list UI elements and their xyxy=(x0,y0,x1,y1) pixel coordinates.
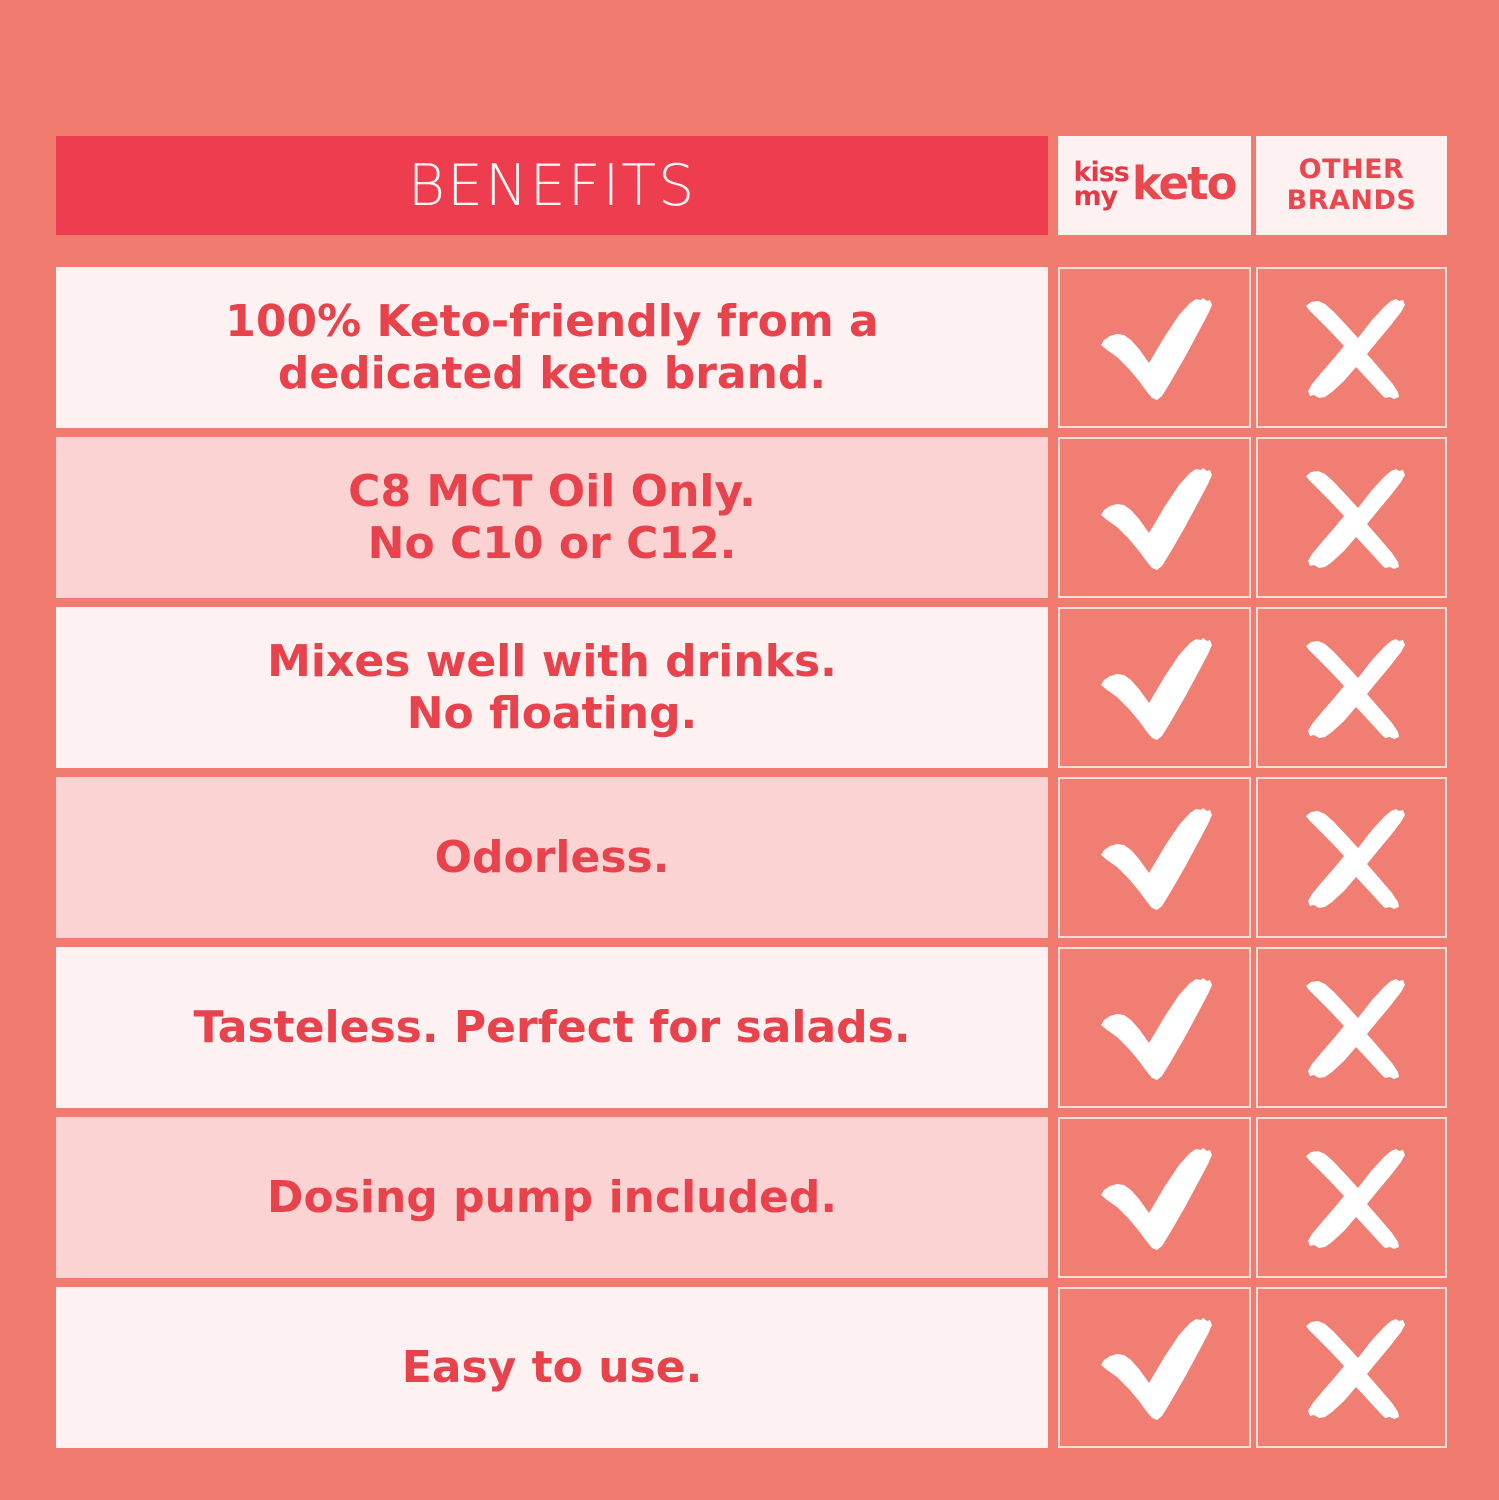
other-brands-mark-cell xyxy=(1256,267,1447,428)
benefits-comparison-chart: BENEFITS kiss my keto OTHER BRANDS 100% … xyxy=(0,0,1499,1500)
check-icon xyxy=(1095,1313,1215,1423)
benefit-text: Odorless. xyxy=(435,832,670,884)
benefit-cell: C8 MCT Oil Only. No C10 or C12. xyxy=(56,437,1048,598)
benefits-header-label: BENEFITS xyxy=(408,153,697,219)
check-icon xyxy=(1095,1143,1215,1253)
other-brands-mark-cell xyxy=(1256,437,1447,598)
benefit-text: C8 MCT Oil Only. No C10 or C12. xyxy=(348,466,756,570)
check-icon xyxy=(1095,633,1215,743)
kiss-my-keto-mark-cell xyxy=(1058,1287,1251,1448)
kiss-my-keto-mark-cell xyxy=(1058,1117,1251,1278)
benefit-cell: Dosing pump included. xyxy=(56,1117,1048,1278)
table-header-row: BENEFITS kiss my keto OTHER BRANDS xyxy=(56,136,1447,235)
cross-icon xyxy=(1292,1313,1412,1423)
other-brands-mark-cell xyxy=(1256,777,1447,938)
kiss-my-keto-mark-cell xyxy=(1058,437,1251,598)
kiss-my-keto-mark-cell xyxy=(1058,777,1251,938)
cross-icon xyxy=(1292,463,1412,573)
cross-icon xyxy=(1292,293,1412,403)
check-icon xyxy=(1095,463,1215,573)
table-row: Easy to use. xyxy=(56,1287,1447,1448)
other-brands-mark-cell xyxy=(1256,1287,1447,1448)
benefit-text: Mixes well with drinks. No floating. xyxy=(267,636,837,740)
logo-left-stack: kiss my xyxy=(1073,161,1128,207)
logo-my-text: my xyxy=(1073,185,1128,208)
cross-icon xyxy=(1292,973,1412,1083)
table-row: Mixes well with drinks. No floating. xyxy=(56,607,1447,768)
kiss-my-keto-mark-cell xyxy=(1058,607,1251,768)
benefit-cell: 100% Keto-friendly from a dedicated keto… xyxy=(56,267,1048,428)
kiss-my-keto-header-cell: kiss my keto xyxy=(1058,136,1251,235)
other-brands-label: OTHER BRANDS xyxy=(1256,155,1447,215)
table-row: 100% Keto-friendly from a dedicated keto… xyxy=(56,267,1447,428)
benefit-cell: Odorless. xyxy=(56,777,1048,938)
other-brands-header-cell: OTHER BRANDS xyxy=(1256,136,1447,235)
check-icon xyxy=(1095,803,1215,913)
kiss-my-keto-logo: kiss my keto xyxy=(1073,161,1235,207)
benefit-cell: Easy to use. xyxy=(56,1287,1048,1448)
benefit-cell: Tasteless. Perfect for salads. xyxy=(56,947,1048,1108)
benefit-cell: Mixes well with drinks. No floating. xyxy=(56,607,1048,768)
benefit-text: Tasteless. Perfect for salads. xyxy=(193,1002,910,1054)
other-brands-mark-cell xyxy=(1256,607,1447,768)
benefit-text: Easy to use. xyxy=(402,1342,703,1394)
check-icon xyxy=(1095,293,1215,403)
logo-keto-text: keto xyxy=(1132,164,1236,205)
table-row: Odorless. xyxy=(56,777,1447,938)
benefit-text: Dosing pump included. xyxy=(267,1172,837,1224)
check-icon xyxy=(1095,973,1215,1083)
kiss-my-keto-mark-cell xyxy=(1058,267,1251,428)
table-row: C8 MCT Oil Only. No C10 or C12. xyxy=(56,437,1447,598)
kiss-my-keto-mark-cell xyxy=(1058,947,1251,1108)
table-row: Dosing pump included. xyxy=(56,1117,1447,1278)
benefit-text: 100% Keto-friendly from a dedicated keto… xyxy=(225,296,879,400)
cross-icon xyxy=(1292,803,1412,913)
benefit-rows: 100% Keto-friendly from a dedicated keto… xyxy=(56,267,1447,1457)
other-brands-mark-cell xyxy=(1256,947,1447,1108)
cross-icon xyxy=(1292,633,1412,743)
table-row: Tasteless. Perfect for salads. xyxy=(56,947,1447,1108)
other-brands-mark-cell xyxy=(1256,1117,1447,1278)
cross-icon xyxy=(1292,1143,1412,1253)
benefits-header-cell: BENEFITS xyxy=(56,136,1048,235)
